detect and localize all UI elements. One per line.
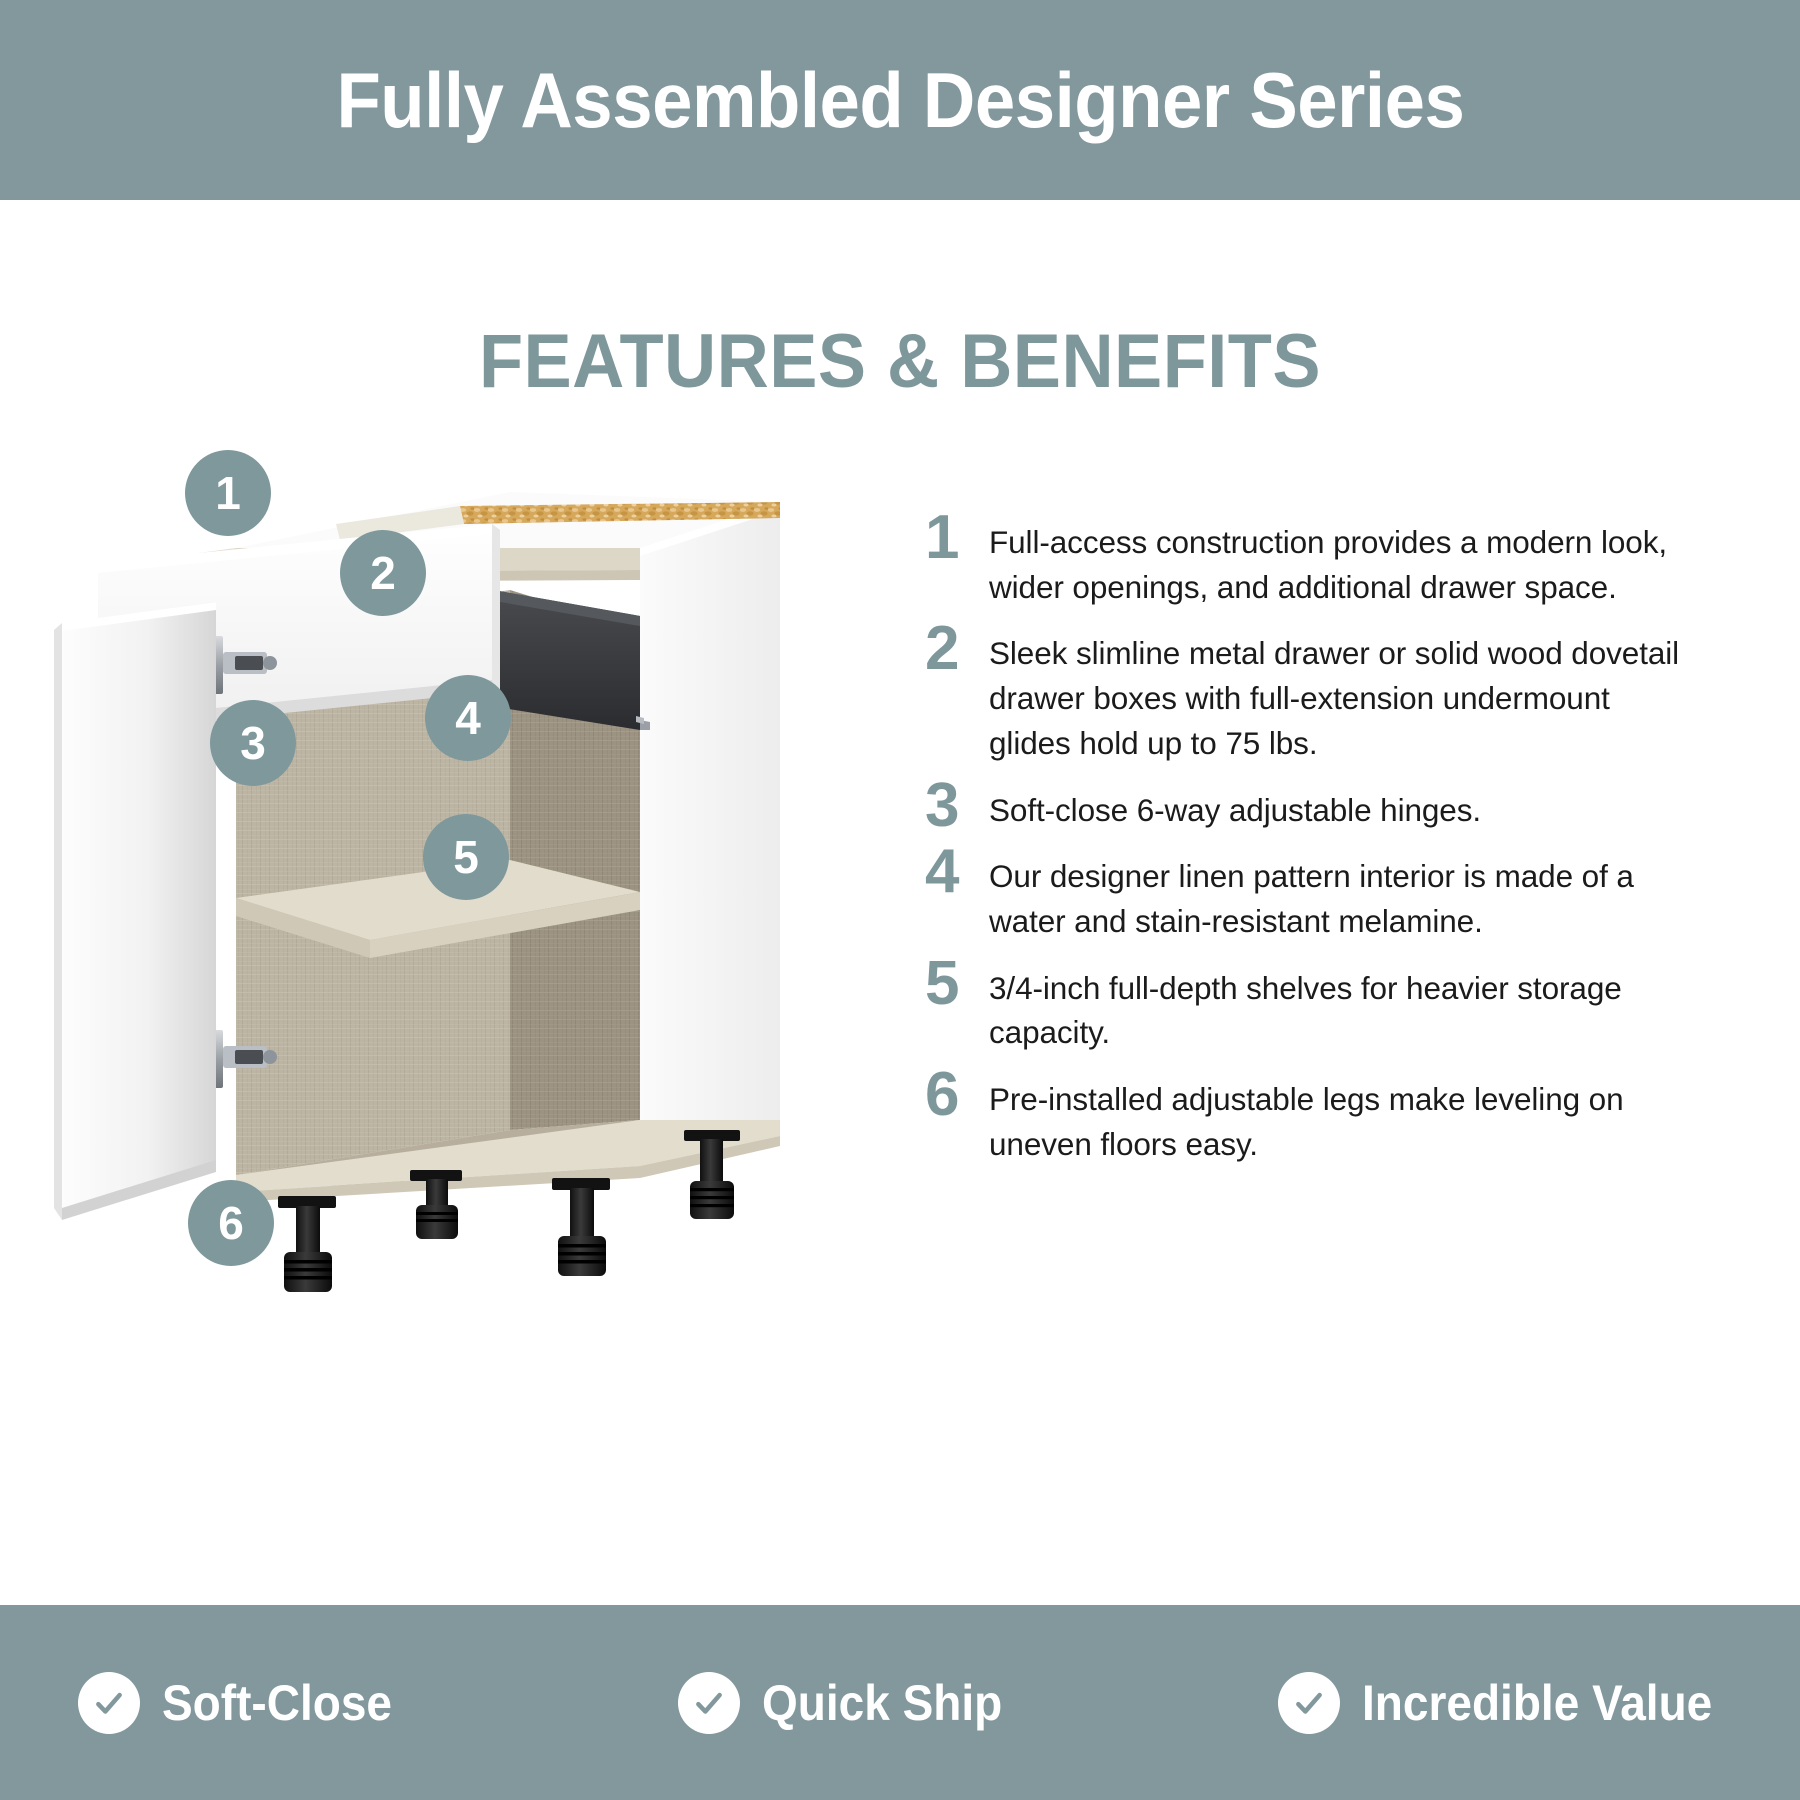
- callout-badge-4: 4: [425, 675, 511, 761]
- callout-badge-6: 6: [188, 1180, 274, 1266]
- feature-item-3: 3 Soft-close 6-way adjustable hinges.: [925, 788, 1725, 833]
- callout-badge-3: 3: [210, 700, 296, 786]
- check-circle-icon: [78, 1672, 140, 1734]
- infographic-page: Fully Assembled Designer Series FEATURES…: [0, 0, 1800, 1800]
- footer-badge-soft-close: Soft-Close: [0, 1672, 600, 1734]
- feature-text-6: Pre-installed adjustable legs make level…: [989, 1077, 1699, 1166]
- feature-number-2: 2: [925, 625, 989, 673]
- footer-label-incredible-value: Incredible Value: [1362, 1674, 1712, 1732]
- check-circle-icon: [1278, 1672, 1340, 1734]
- feature-item-6: 6 Pre-installed adjustable legs make lev…: [925, 1077, 1725, 1166]
- feature-number-3: 3: [925, 782, 989, 830]
- feature-number-1: 1: [925, 514, 989, 562]
- feature-text-2: Sleek slimline metal drawer or solid woo…: [989, 631, 1699, 765]
- feature-number-6: 6: [925, 1071, 989, 1119]
- footer-label-quick-ship: Quick Ship: [762, 1674, 1002, 1732]
- page-title: Fully Assembled Designer Series: [336, 55, 1464, 146]
- feature-text-4: Our designer linen pattern interior is m…: [989, 854, 1699, 943]
- feature-text-3: Soft-close 6-way adjustable hinges.: [989, 788, 1699, 833]
- features-list: 1 Full-access construction provides a mo…: [925, 520, 1725, 1189]
- feature-item-5: 5 3/4-inch full-depth shelves for heavie…: [925, 966, 1725, 1055]
- section-heading: FEATURES & BENEFITS: [45, 318, 1755, 405]
- footer-badge-incredible-value: Incredible Value: [1200, 1672, 1800, 1734]
- callout-badge-2: 2: [340, 530, 426, 616]
- header-banner: Fully Assembled Designer Series: [0, 0, 1800, 200]
- footer-banner: Soft-Close Quick Ship Incredible Value: [0, 1605, 1800, 1800]
- footer-badge-quick-ship: Quick Ship: [600, 1672, 1200, 1734]
- feature-item-1: 1 Full-access construction provides a mo…: [925, 520, 1725, 609]
- feature-item-2: 2 Sleek slimline metal drawer or solid w…: [925, 631, 1725, 765]
- feature-item-4: 4 Our designer linen pattern interior is…: [925, 854, 1725, 943]
- check-circle-icon: [678, 1672, 740, 1734]
- callout-badge-1: 1: [185, 450, 271, 536]
- feature-number-4: 4: [925, 848, 989, 896]
- feature-number-5: 5: [925, 960, 989, 1008]
- callout-badge-5: 5: [423, 814, 509, 900]
- feature-text-5: 3/4-inch full-depth shelves for heavier …: [989, 966, 1699, 1055]
- feature-text-1: Full-access construction provides a mode…: [989, 520, 1699, 609]
- footer-label-soft-close: Soft-Close: [162, 1674, 392, 1732]
